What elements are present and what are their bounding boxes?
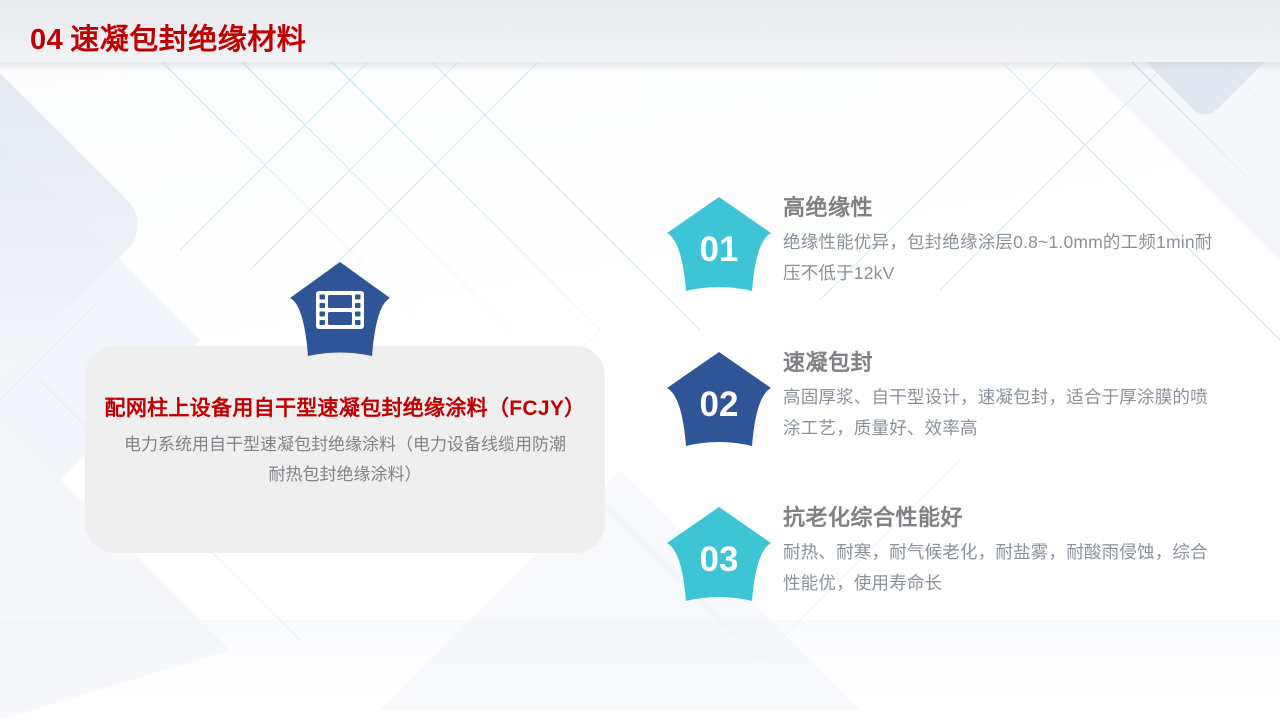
- feature-description-02: 高固厚浆、自干型设计，速凝包封，适合于厚涂膜的喷涂工艺，质量好、效率高: [783, 382, 1213, 444]
- header-band-shadow: [0, 62, 1280, 72]
- slide-canvas: 04速凝包封绝缘材料 配网柱上设备用自干型速凝包封绝缘涂料（FC: [0, 0, 1280, 720]
- feature-heading-03: 抗老化综合性能好: [783, 503, 1213, 533]
- feature-description-01: 绝缘性能优异，包封绝缘涂层0.8~1.0mm的工频1min耐压不低于12kV: [783, 227, 1213, 289]
- feature-heading-02: 速凝包封: [783, 348, 1213, 378]
- feature-item-03: 03 抗老化综合性能好 耐热、耐寒，耐气候老化，耐盐雾，耐酸雨侵蚀，综合性能优，…: [660, 500, 1220, 655]
- feature-number-01: 01: [665, 196, 773, 292]
- feature-text-01: 高绝缘性 绝缘性能优异，包封绝缘涂层0.8~1.0mm的工频1min耐压不低于1…: [783, 193, 1213, 289]
- product-description: 电力系统用自干型速凝包封绝缘涂料（电力设备线缆用防潮耐热包封绝缘涂料）: [121, 430, 569, 490]
- feature-list: 01 高绝缘性 绝缘性能优异，包封绝缘涂层0.8~1.0mm的工频1min耐压不…: [660, 190, 1220, 655]
- feature-text-02: 速凝包封 高固厚浆、自干型设计，速凝包封，适合于厚涂膜的喷涂工艺，质量好、效率高: [783, 348, 1213, 444]
- feature-number-03: 03: [665, 506, 773, 602]
- feature-text-03: 抗老化综合性能好 耐热、耐寒，耐气候老化，耐盐雾，耐酸雨侵蚀，综合性能优，使用寿…: [783, 503, 1213, 599]
- feature-heading-01: 高绝缘性: [783, 193, 1213, 223]
- product-title: 配网柱上设备用自干型速凝包封绝缘涂料（FCJY）: [85, 392, 605, 422]
- feature-item-01: 01 高绝缘性 绝缘性能优异，包封绝缘涂层0.8~1.0mm的工频1min耐压不…: [660, 190, 1220, 345]
- section-number: 04: [30, 24, 63, 56]
- page-title: 04速凝包封绝缘材料: [30, 16, 306, 58]
- feature-description-03: 耐热、耐寒，耐气候老化，耐盐雾，耐酸雨侵蚀，综合性能优，使用寿命长: [783, 537, 1213, 599]
- film-strip-icon: [288, 261, 392, 357]
- product-icon-badge: [288, 261, 392, 357]
- section-title-text: 速凝包封绝缘材料: [70, 24, 306, 56]
- feature-number-02: 02: [665, 351, 773, 447]
- product-description-card: 配网柱上设备用自干型速凝包封绝缘涂料（FCJY） 电力系统用自干型速凝包封绝缘涂…: [85, 346, 605, 553]
- feature-item-02: 02 速凝包封 高固厚浆、自干型设计，速凝包封，适合于厚涂膜的喷涂工艺，质量好、…: [660, 345, 1220, 500]
